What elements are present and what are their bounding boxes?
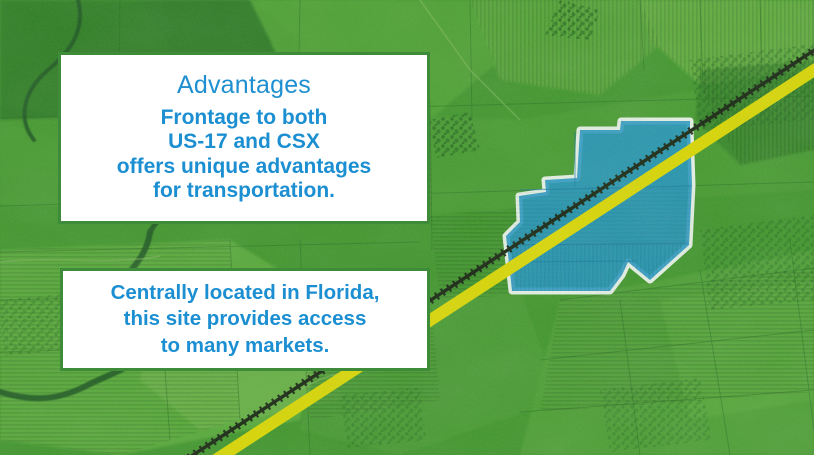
callout-location-line-1: Centrally located in Florida, [111, 280, 380, 306]
callout-advantages-line-3: offers unique advantages [117, 155, 371, 180]
callout-advantages: Advantages Frontage to both US-17 and CS… [58, 52, 430, 224]
callout-location-line-2: this site provides access [111, 306, 380, 332]
callout-location: Centrally located in Florida, this site … [60, 268, 430, 371]
callout-advantages-title: Advantages [177, 72, 311, 98]
callout-location-line-3: to many markets. [111, 333, 380, 359]
callout-advantages-line-2: US-17 and CSX [117, 130, 371, 155]
callout-advantages-line-4: for transportation. [117, 179, 371, 204]
callout-advantages-line-1: Frontage to both [117, 106, 371, 131]
callout-advantages-body: Frontage to both US-17 and CSX offers un… [111, 106, 377, 204]
slide-root: Advantages Frontage to both US-17 and CS… [0, 0, 814, 455]
callout-location-body: Centrally located in Florida, this site … [105, 280, 386, 358]
